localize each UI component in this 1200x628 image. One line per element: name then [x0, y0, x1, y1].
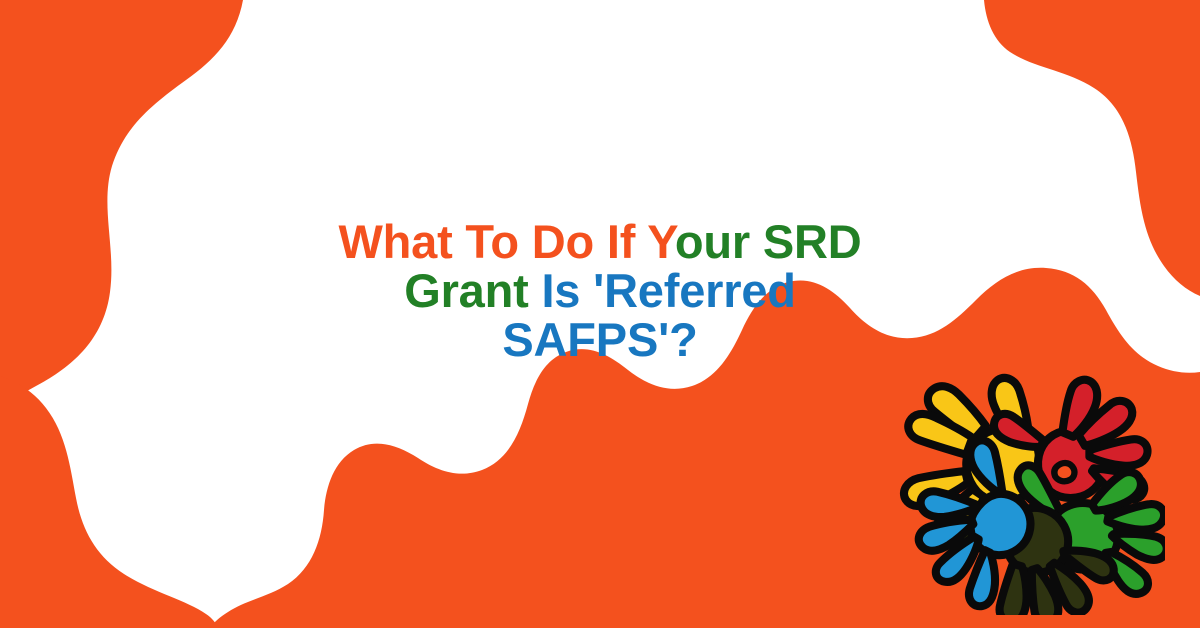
palm-detail-red: [1054, 463, 1074, 481]
banner-root: What To Do If Your SRD Grant Is 'Referre…: [0, 0, 1200, 628]
headline-segment-2-2: Is 'Referred: [541, 264, 795, 317]
headline-line-1: What To Do If Your SRD: [0, 218, 1200, 267]
headline: What To Do If Your SRD Grant Is 'Referre…: [0, 218, 1200, 365]
headline-segment-2-1: Grant: [404, 264, 541, 317]
headline-segment-3-1: SAFPS'?: [502, 313, 697, 366]
headline-segment-1-2: our SRD: [675, 215, 862, 268]
headline-segment-1-1: What To Do If Y: [338, 215, 674, 268]
bottom-left-blob-shape: [0, 376, 218, 628]
five-hands-circle-logo: [895, 345, 1165, 615]
headline-line-2: Grant Is 'Referred: [0, 267, 1200, 316]
